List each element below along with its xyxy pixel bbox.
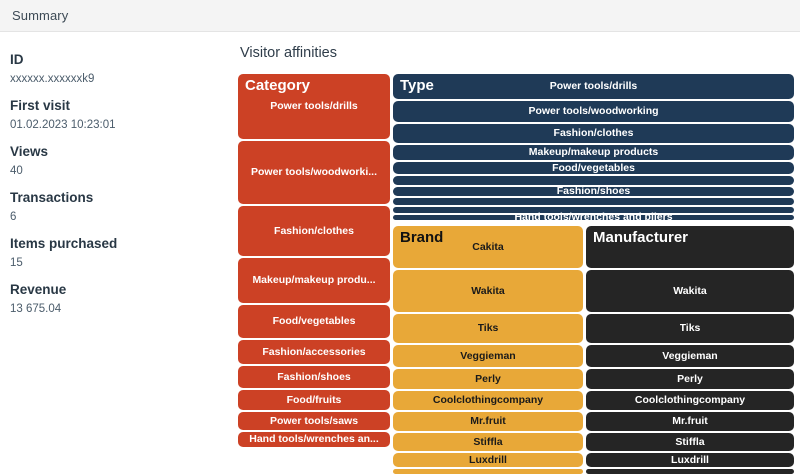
affinity-bar-label: Luxdrill [671,455,709,466]
affinity-bar-label: Food/vegetables [273,316,356,327]
bar-list-manufacturer: WakitaTiksVeggiemanPerlyCoolclothingcomp… [586,226,794,474]
affinity-bar[interactable]: Fashion/clothes [238,206,390,256]
summary-field-value: 13 675.04 [10,300,225,319]
affinity-bar-label: Power tools/saws [270,416,358,427]
summary-field: IDxxxxxx.xxxxxxk9 [10,46,225,89]
summary-field: First visit01.02.2023 10:23:01 [10,92,225,135]
summary-field: Views40 [10,138,225,181]
affinity-bar[interactable]: Tiks [393,314,583,343]
summary-panel: IDxxxxxx.xxxxxxk9First visit01.02.2023 1… [10,46,225,322]
summary-field-label: First visit [10,92,225,116]
affinity-bar[interactable]: Hand tools/wrenches and pliers [393,215,794,220]
affinity-bar[interactable]: Luxdrill [586,453,794,467]
affinity-bar-label: Fashion/accessories [262,347,365,358]
affinity-bar-label: Tiks [478,323,499,334]
affinity-bar-label: Fashion/clothes [274,226,354,237]
affinity-bar[interactable] [393,198,794,205]
bar-list-brand: CakitaWakitaTiksVeggiemanPerlyCoolclothi… [393,226,583,474]
affinity-bar[interactable]: Food/vegetables [393,162,794,174]
affinity-bar-label: Perly [475,374,501,385]
summary-field-label: Views [10,138,225,162]
column-brand: Brand CakitaWakitaTiksVeggiemanPerlyCool… [393,226,583,476]
affinity-bar[interactable]: Wakita [393,270,583,312]
summary-field-label: ID [10,46,225,70]
affinity-bar[interactable]: Stiffla [393,433,583,451]
affinity-bar-label: Power tools/woodworki... [251,167,377,178]
affinity-bar-label: Hand tools/wrenches and pliers [514,212,672,223]
affinity-bar-label: Mr.fruit [470,416,506,427]
affinity-bar[interactable]: Luxdrill [393,453,583,467]
affinity-bar[interactable]: Power tools/woodworki... [238,141,390,204]
affinity-columns: Category Power tools/drillsPower tools/w… [238,74,794,462]
affinity-bar[interactable]: Wakita [586,270,794,312]
affinity-bar[interactable]: Power tools/drills [238,74,390,139]
affinity-bar[interactable] [393,469,583,474]
affinity-bar[interactable]: Power tools/drills [393,74,794,99]
affinity-bar-label: Stiffla [675,437,704,448]
affinity-bar-label: Wakita [471,286,504,297]
affinity-bar-label: Stiffla [473,437,502,448]
affinity-bar[interactable]: Perly [393,369,583,389]
affinity-bar-label: Veggieman [460,351,515,362]
column-category: Category Power tools/drillsPower tools/w… [238,74,390,449]
summary-field: Items purchased15 [10,230,225,273]
affinity-bar[interactable] [586,226,794,268]
affinity-bar[interactable]: Coolclothingcompany [586,391,794,410]
affinity-bar-label: Makeup/makeup products [529,147,659,158]
affinity-bar-label: Fashion/shoes [557,186,631,197]
affinity-bar[interactable]: Coolclothingcompany [393,391,583,410]
affinity-bar-label: Hand tools/wrenches an... [249,434,379,445]
affinity-bar[interactable]: Makeup/makeup produ... [238,258,390,303]
bar-list-type: Power tools/drillsPower tools/woodworkin… [393,74,794,220]
affinity-bar[interactable]: Food/vegetables [238,305,390,338]
summary-field-label: Revenue [10,276,225,300]
column-manufacturer: Manufacturer WakitaTiksVeggiemanPerlyCoo… [586,226,794,476]
affinity-bar-label: Power tools/drills [270,101,358,112]
affinity-bar-label: Luxdrill [469,455,507,466]
summary-field-list: IDxxxxxx.xxxxxxk9First visit01.02.2023 1… [10,46,225,319]
affinity-bar[interactable]: Food/fruits [238,390,390,410]
affinity-bar[interactable]: Mr.fruit [393,412,583,431]
affinity-bar-label: Power tools/drills [550,81,638,92]
summary-field-value: 15 [10,254,225,273]
affinity-bar-label: Makeup/makeup produ... [252,275,375,286]
affinity-bar-label: Tiks [680,323,701,334]
affinity-bar[interactable]: Fashion/accessories [238,340,390,364]
affinity-bar[interactable] [586,469,794,474]
summary-field-label: Items purchased [10,230,225,254]
affinity-bar-label: Food/vegetables [552,163,635,174]
affinity-bar-label: Veggieman [662,351,717,362]
affinity-bar-label: Fashion/shoes [277,372,351,383]
summary-field-value: 40 [10,162,225,181]
column-type: Type Power tools/drillsPower tools/woodw… [393,74,794,222]
summary-field-value: xxxxxx.xxxxxxk9 [10,70,225,89]
summary-field-value: 6 [10,208,225,227]
affinity-bar[interactable]: Veggieman [393,345,583,367]
affinity-bar-label: Food/fruits [287,395,342,406]
affinity-bar[interactable]: Stiffla [586,433,794,451]
affinity-bar[interactable]: Fashion/clothes [393,124,794,143]
affinity-bar-label: Mr.fruit [672,416,708,427]
affinity-bar-label: Cakita [472,242,504,253]
affinity-bar-label: Coolclothingcompany [433,395,543,406]
affinity-bar[interactable]: Tiks [586,314,794,343]
affinity-bar[interactable]: Makeup/makeup products [393,145,794,160]
affinity-bar-label: Perly [677,374,703,385]
affinity-bar[interactable]: Mr.fruit [586,412,794,431]
summary-field: Transactions6 [10,184,225,227]
app-root: Summary IDxxxxxx.xxxxxxk9First visit01.0… [0,0,800,471]
summary-field-value: 01.02.2023 10:23:01 [10,116,225,135]
affinity-bar[interactable]: Fashion/shoes [393,187,794,196]
affinity-bar[interactable]: Perly [586,369,794,389]
affinity-bar[interactable]: Veggieman [586,345,794,367]
bar-list-category: Power tools/drillsPower tools/woodworki.… [238,74,390,447]
page-title: Summary [12,8,68,23]
affinity-bar[interactable]: Power tools/woodworking [393,101,794,122]
window-topbar: Summary [0,0,800,32]
affinity-bar-label: Power tools/woodworking [528,106,658,117]
summary-field-label: Transactions [10,184,225,208]
affinity-bar-label: Fashion/clothes [554,128,634,139]
visitor-affinities-chart: Visitor affinities Category Power tools/… [238,44,794,471]
affinity-bar-label: Wakita [673,286,706,297]
affinity-bar-label: Coolclothingcompany [635,395,745,406]
affinity-bar[interactable] [393,176,794,185]
chart-title: Visitor affinities [240,44,794,62]
affinity-bar[interactable]: Power tools/saws [238,412,390,430]
summary-field: Revenue13 675.04 [10,276,225,319]
affinity-bar[interactable]: Hand tools/wrenches an... [238,432,390,447]
affinity-bar[interactable]: Cakita [393,226,583,268]
affinity-bar[interactable]: Fashion/shoes [238,366,390,388]
